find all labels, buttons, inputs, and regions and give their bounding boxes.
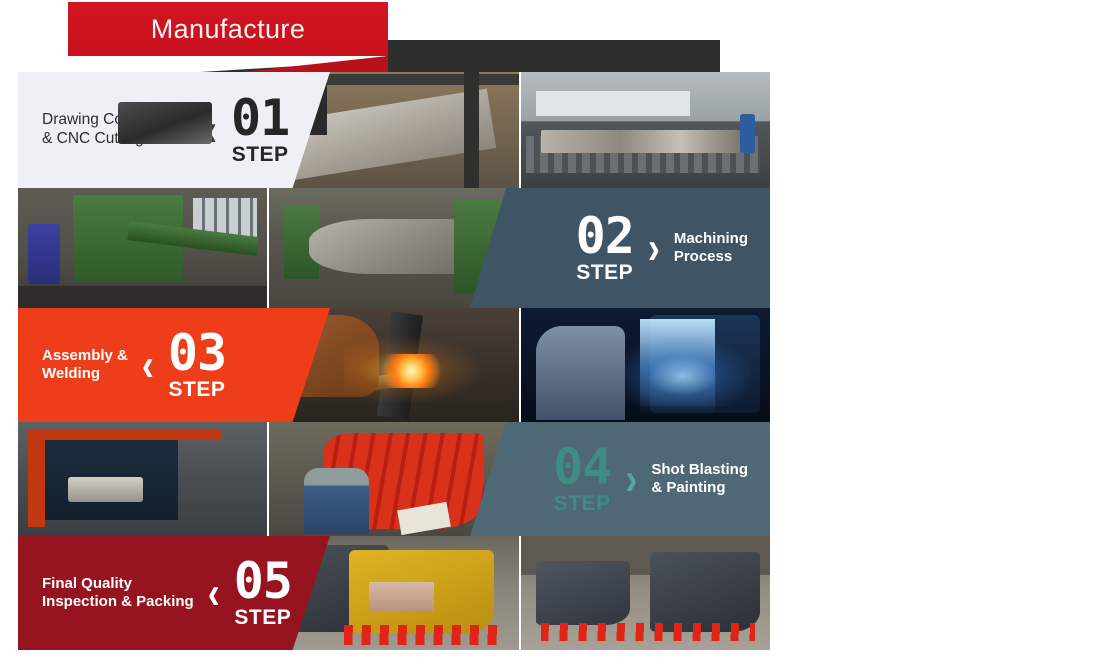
step-number-02: 02 xyxy=(576,213,634,259)
step-number-block-01: 01 STEP xyxy=(231,95,289,165)
header: Manufacture xyxy=(0,0,1119,78)
process-step-row-02: 02 STEP › Machining Process xyxy=(18,188,770,308)
step-number-01: 01 xyxy=(231,95,289,141)
step-number-04: 04 xyxy=(553,444,611,490)
process-steps-list: Drawing Confirmation & CNC Cutting ‹ 01 … xyxy=(18,72,770,650)
photo-arc-welding-blue-glow xyxy=(519,308,770,422)
step-word-03: STEP xyxy=(169,379,226,400)
process-step-row-01: Drawing Confirmation & CNC Cutting ‹ 01 … xyxy=(18,72,770,188)
step-number-block-05: 05 STEP xyxy=(234,558,292,628)
photo-factory-cutting-floor xyxy=(519,72,770,188)
process-step-row-05: Final Quality Inspection & Packing ‹ 05 … xyxy=(18,536,770,650)
header-shadow-block xyxy=(386,40,720,74)
photo-packed-bucket-pair xyxy=(519,536,770,650)
step-panel-03[interactable]: Assembly & Welding ‹ 03 STEP xyxy=(18,308,330,422)
step-label-05: Final Quality Inspection & Packing xyxy=(42,575,194,612)
process-step-row-03: Assembly & Welding ‹ 03 STEP xyxy=(18,308,770,422)
step-word-04: STEP xyxy=(554,493,611,514)
chevron-left-icon: ‹ xyxy=(200,571,228,616)
step-number-03: 03 xyxy=(168,330,226,376)
page-title: Manufacture xyxy=(151,16,305,43)
step-number-block-03: 03 STEP xyxy=(168,330,226,400)
header-banner: Manufacture xyxy=(68,2,388,56)
chevron-right-icon: › xyxy=(617,457,645,502)
step-number-block-02: 02 STEP xyxy=(576,213,634,283)
step-panel-04[interactable]: 04 STEP › Shot Blasting & Painting xyxy=(470,422,770,536)
step-panel-05[interactable]: Final Quality Inspection & Packing ‹ 05 … xyxy=(18,536,330,650)
chevron-right-icon: › xyxy=(640,226,668,271)
step-word-01: STEP xyxy=(232,144,289,165)
process-step-row-04: 04 STEP › Shot Blasting & Painting xyxy=(18,422,770,536)
step-panel-02[interactable]: 02 STEP › Machining Process xyxy=(470,188,770,308)
step-word-05: STEP xyxy=(234,607,291,628)
step-number-block-04: 04 STEP xyxy=(553,444,611,514)
manufacture-process-infographic: Manufacture xyxy=(0,0,1119,664)
step-word-02: STEP xyxy=(576,262,633,283)
step-label-04: Shot Blasting & Painting xyxy=(651,461,748,498)
chevron-left-icon: ‹ xyxy=(134,343,162,388)
photo-shot-blasting-chamber xyxy=(18,422,267,536)
step-number-05: 05 xyxy=(234,558,292,604)
step-label-03: Assembly & Welding xyxy=(42,347,128,384)
photo-drilling-machine-operator xyxy=(18,188,267,308)
step-label-02: Machining Process xyxy=(674,230,748,267)
